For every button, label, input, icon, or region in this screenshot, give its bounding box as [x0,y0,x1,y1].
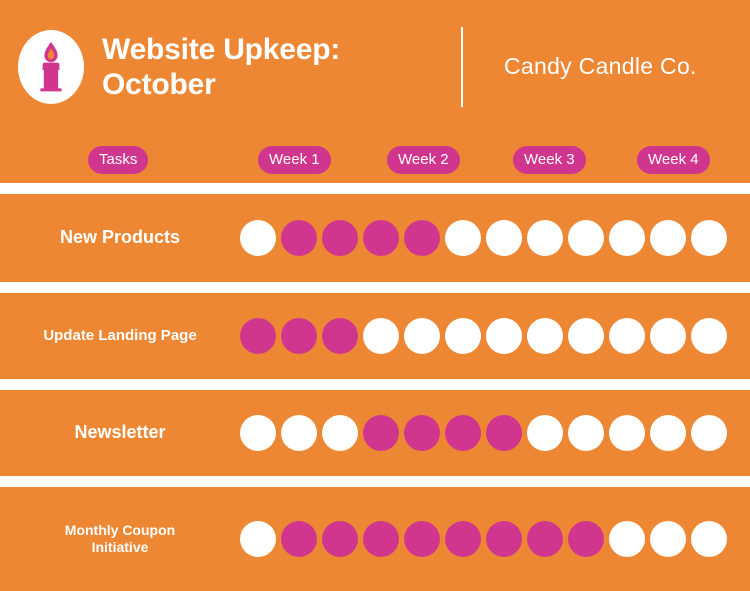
row-divider [0,282,750,293]
cell-empty[interactable] [240,521,276,557]
cell-empty[interactable] [691,521,727,557]
cell-filled[interactable] [445,415,481,451]
cell-empty[interactable] [445,220,481,256]
cell-empty[interactable] [691,220,727,256]
week-cells [240,415,750,451]
cell-filled[interactable] [404,521,440,557]
cell-empty[interactable] [281,415,317,451]
week-cells [240,521,750,557]
logo-badge [18,30,84,104]
cell-filled[interactable] [281,318,317,354]
cell-empty[interactable] [527,220,563,256]
cell-empty[interactable] [609,415,645,451]
header-banner: Website Upkeep: October Candy Candle Co.… [0,0,750,183]
gantt-poster: Website Upkeep: October Candy Candle Co.… [0,0,750,579]
cell-empty[interactable] [650,318,686,354]
cell-empty[interactable] [486,220,522,256]
week-cells [240,220,750,256]
cell-empty[interactable] [486,318,522,354]
table-row[interactable]: Newsletter [0,390,750,476]
row-divider [0,183,750,194]
cell-empty[interactable] [609,318,645,354]
week-cells [240,318,750,354]
cell-empty[interactable] [650,521,686,557]
task-rows: New Products Update Landing Page Newslet… [0,183,750,591]
cell-filled[interactable] [486,521,522,557]
page-title: Website Upkeep: October [102,32,340,103]
header-divider [461,27,463,107]
table-row[interactable]: New Products [0,194,750,282]
column-header-tasks[interactable]: Tasks [88,146,148,174]
cell-filled[interactable] [486,415,522,451]
cell-empty[interactable] [691,318,727,354]
column-header-week-2[interactable]: Week 2 [387,146,460,174]
cell-filled[interactable] [568,521,604,557]
cell-empty[interactable] [568,318,604,354]
row-divider [0,476,750,487]
cell-empty[interactable] [609,220,645,256]
table-row[interactable]: Update Landing Page [0,293,750,379]
cell-empty[interactable] [363,318,399,354]
cell-empty[interactable] [568,415,604,451]
cell-filled[interactable] [363,521,399,557]
cell-empty[interactable] [691,415,727,451]
task-label: Newsletter [0,422,240,444]
cell-filled[interactable] [527,521,563,557]
cell-empty[interactable] [527,415,563,451]
cell-empty[interactable] [650,220,686,256]
row-divider [0,379,750,390]
cell-filled[interactable] [363,415,399,451]
company-name: Candy Candle Co. [504,53,697,80]
cell-filled[interactable] [404,220,440,256]
cell-filled[interactable] [445,521,481,557]
column-header-week-3[interactable]: Week 3 [513,146,586,174]
title-block: Website Upkeep: October [102,32,340,103]
cell-empty[interactable] [527,318,563,354]
cell-empty[interactable] [568,220,604,256]
cell-filled[interactable] [240,318,276,354]
brand-block: Website Upkeep: October [18,28,340,106]
candle-icon [32,40,70,94]
cell-filled[interactable] [322,220,358,256]
cell-empty[interactable] [404,318,440,354]
cell-empty[interactable] [322,415,358,451]
cell-filled[interactable] [322,318,358,354]
column-header-week-4[interactable]: Week 4 [637,146,710,174]
cell-filled[interactable] [281,521,317,557]
cell-empty[interactable] [445,318,481,354]
cell-empty[interactable] [609,521,645,557]
table-row[interactable]: Monthly Coupon Initiative [0,487,750,591]
cell-filled[interactable] [322,521,358,557]
cell-filled[interactable] [363,220,399,256]
task-label: New Products [0,227,240,249]
task-label: Monthly Coupon Initiative [0,522,240,556]
cell-filled[interactable] [281,220,317,256]
cell-empty[interactable] [650,415,686,451]
column-header-week-1[interactable]: Week 1 [258,146,331,174]
cell-filled[interactable] [404,415,440,451]
task-label: Update Landing Page [0,327,240,345]
cell-empty[interactable] [240,415,276,451]
cell-empty[interactable] [240,220,276,256]
